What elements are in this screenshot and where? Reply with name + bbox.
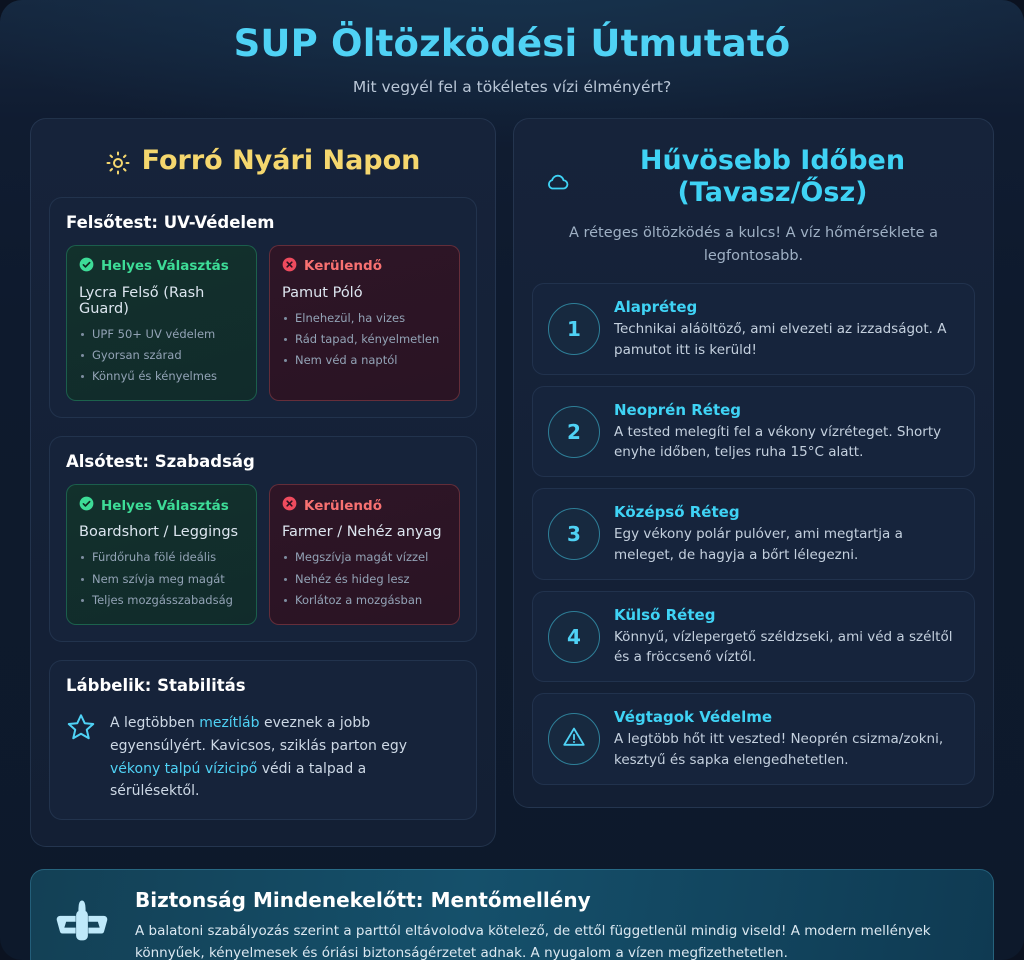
banner-text: Biztonság Mindenekelőtt: Mentőmellény A … <box>135 888 945 960</box>
check-circle-icon <box>79 496 94 515</box>
good-choice-label: Helyes Választás <box>101 498 229 514</box>
layer-title: Külső Réteg <box>614 606 959 624</box>
layer-title: Alapréteg <box>614 298 959 316</box>
layer-body: Végtagok Védelme A legtöbb hőt itt veszt… <box>614 708 959 770</box>
footwear-text: A legtöbben mezítláb eveznek a jobb egye… <box>110 712 460 803</box>
infographic-page: SUP Öltözködési Útmutató Mit vegyél fel … <box>0 0 1024 960</box>
list-item: 1 Alapréteg Technikai aláöltöző, ami elv… <box>532 283 975 375</box>
footwear-highlight-2: vékony talpú vízicipő <box>110 761 257 777</box>
page-subtitle: Mit vegyél fel a tökéletes vízi élményér… <box>0 78 1024 96</box>
list-item: Nem véd a naptól <box>282 350 447 371</box>
banner-description: A balatoni szabályozás szerint a parttól… <box>135 921 945 960</box>
layer-body: Középső Réteg Egy vékony polár pulóver, … <box>614 503 959 565</box>
list-item: Megszívja magát vízzel <box>282 547 447 568</box>
list-item: Gyorsan szárad <box>79 345 244 366</box>
layer-description: A tested melegíti fel a vékony vízrétege… <box>614 422 959 463</box>
avoid-name: Pamut Póló <box>282 285 447 301</box>
section-card-lower-body: Alsótest: Szabadság Helyes Választás Boa… <box>49 436 477 642</box>
good-choice-card: Helyes Választás Lycra Felső (Rash Guard… <box>66 245 257 402</box>
good-choice-name: Boardshort / Leggings <box>79 524 244 540</box>
life-vest-icon <box>53 895 111 957</box>
section-card-upper-body: Felsőtest: UV-Védelem Helyes Választás L… <box>49 197 477 419</box>
layer-body: Alapréteg Technikai aláöltöző, ami elvez… <box>614 298 959 360</box>
section-heading: Alsótest: Szabadság <box>66 452 460 471</box>
number-badge: 4 <box>548 611 600 663</box>
sun-icon <box>106 151 130 179</box>
x-circle-icon <box>282 496 297 515</box>
star-icon <box>66 712 96 746</box>
good-choice-name: Lycra Felső (Rash Guard) <box>79 285 244 317</box>
list-item: Nem szívja meg magát <box>79 569 244 590</box>
section-card-footwear: Lábbelik: Stabilitás A legtöbben mezítlá… <box>49 660 477 820</box>
list-item: 2 Neoprén Réteg A tested melegíti fel a … <box>532 386 975 478</box>
list-item: 3 Középső Réteg Egy vékony polár pulóver… <box>532 488 975 580</box>
warning-triangle-icon <box>561 724 587 755</box>
layer-title: Középső Réteg <box>614 503 959 521</box>
good-choice-label: Helyes Választás <box>101 258 229 274</box>
cool-weather-panel: Hűvösebb Időben (Tavasz/Ősz) A réteges ö… <box>513 118 994 808</box>
footwear-text-1: A legtöbben <box>110 715 199 731</box>
section-heading: Felsőtest: UV-Védelem <box>66 213 460 232</box>
layer-list: 1 Alapréteg Technikai aláöltöző, ami elv… <box>532 283 975 785</box>
avoid-card: Kerülendő Farmer / Nehéz anyag Megszívja… <box>269 484 460 625</box>
list-item: UPF 50+ UV védelem <box>79 324 244 345</box>
layer-title: Végtagok Védelme <box>614 708 959 726</box>
layer-description: Egy vékony polár pulóver, ami megtartja … <box>614 524 959 565</box>
list-item: Korlátoz a mozgásban <box>282 590 447 611</box>
cool-weather-title: Hűvösebb Időben (Tavasz/Ősz) <box>583 145 963 209</box>
compare-row: Helyes Választás Lycra Felső (Rash Guard… <box>66 245 460 402</box>
cool-weather-title-row: Hűvösebb Időben (Tavasz/Ősz) <box>532 137 975 209</box>
footwear-note: A legtöbben mezítláb eveznek a jobb egye… <box>66 708 460 803</box>
avoid-name: Farmer / Nehéz anyag <box>282 524 447 540</box>
safety-banner: Biztonság Mindenekelőtt: Mentőmellény A … <box>30 869 994 960</box>
page-header: SUP Öltözködési Útmutató Mit vegyél fel … <box>0 0 1024 96</box>
layer-description: Technikai aláöltöző, ami elvezeti az izz… <box>614 319 959 360</box>
cloud-icon <box>545 169 571 199</box>
hot-weather-title-row: Forró Nyári Napon <box>49 137 477 179</box>
good-choice-header: Helyes Választás <box>79 496 244 515</box>
compare-row: Helyes Választás Boardshort / Leggings F… <box>66 484 460 625</box>
avoid-header: Kerülendő <box>282 257 447 276</box>
layer-title: Neoprén Réteg <box>614 401 959 419</box>
hot-weather-panel: Forró Nyári Napon Felsőtest: UV-Védelem … <box>30 118 496 847</box>
layer-body: Külső Réteg Könnyű, vízlepergető széldzs… <box>614 606 959 668</box>
main-columns: Forró Nyári Napon Felsőtest: UV-Védelem … <box>0 96 1024 847</box>
layer-description: A legtöbb hőt itt veszted! Neoprén csizm… <box>614 729 959 770</box>
avoid-bullets: Elnehezül, ha vizes Rád tapad, kényelmet… <box>282 308 447 372</box>
good-choice-card: Helyes Választás Boardshort / Leggings F… <box>66 484 257 625</box>
list-item: Rád tapad, kényelmetlen <box>282 329 447 350</box>
number-badge: 2 <box>548 406 600 458</box>
banner-title: Biztonság Mindenekelőtt: Mentőmellény <box>135 888 945 912</box>
warning-badge <box>548 713 600 765</box>
list-item: Végtagok Védelme A legtöbb hőt itt veszt… <box>532 693 975 785</box>
avoid-label: Kerülendő <box>304 498 382 514</box>
page-title: SUP Öltözködési Útmutató <box>0 22 1024 66</box>
layer-description: Könnyű, vízlepergető széldzseki, ami véd… <box>614 627 959 668</box>
list-item: 4 Külső Réteg Könnyű, vízlepergető széld… <box>532 591 975 683</box>
number-badge: 3 <box>548 508 600 560</box>
good-choice-header: Helyes Választás <box>79 257 244 276</box>
avoid-header: Kerülendő <box>282 496 447 515</box>
cool-weather-subtitle: A réteges öltözködés a kulcs! A víz hőmé… <box>569 222 939 267</box>
avoid-card: Kerülendő Pamut Póló Elnehezül, ha vizes… <box>269 245 460 402</box>
list-item: Fürdőruha fölé ideális <box>79 547 244 568</box>
check-circle-icon <box>79 257 94 276</box>
x-circle-icon <box>282 257 297 276</box>
hot-weather-title: Forró Nyári Napon <box>142 145 421 177</box>
avoid-label: Kerülendő <box>304 258 382 274</box>
section-heading: Lábbelik: Stabilitás <box>66 676 460 695</box>
list-item: Teljes mozgásszabadság <box>79 590 244 611</box>
list-item: Elnehezül, ha vizes <box>282 308 447 329</box>
list-item: Könnyű és kényelmes <box>79 366 244 387</box>
avoid-bullets: Megszívja magát vízzel Nehéz és hideg le… <box>282 547 447 611</box>
good-choice-bullets: Fürdőruha fölé ideális Nem szívja meg ma… <box>79 547 244 611</box>
number-badge: 1 <box>548 303 600 355</box>
list-item: Nehéz és hideg lesz <box>282 569 447 590</box>
footwear-highlight-1: mezítláb <box>199 715 259 731</box>
good-choice-bullets: UPF 50+ UV védelem Gyorsan szárad Könnyű… <box>79 324 244 388</box>
layer-body: Neoprén Réteg A tested melegíti fel a vé… <box>614 401 959 463</box>
